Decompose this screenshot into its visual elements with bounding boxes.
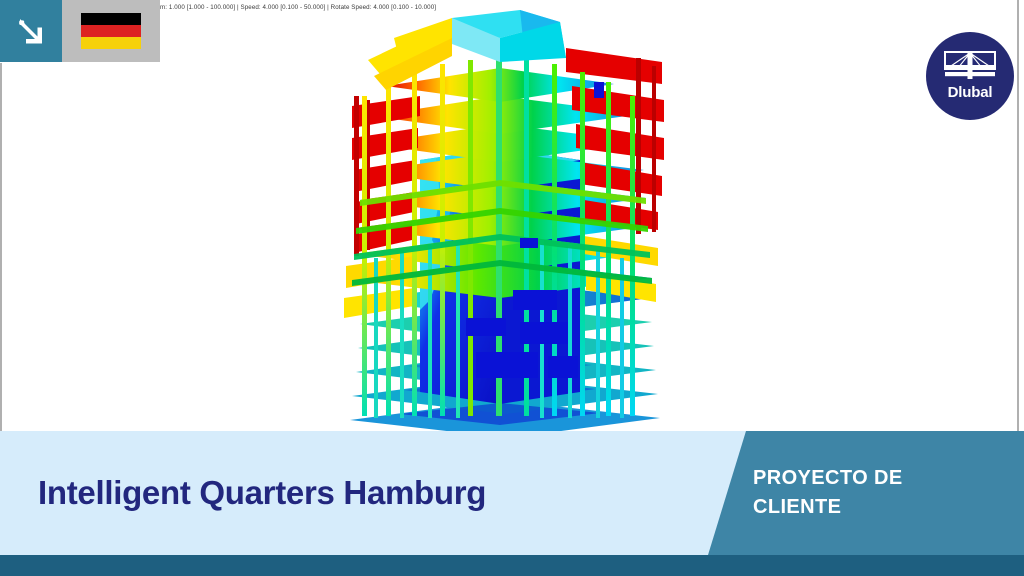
- structural-model-render[interactable]: [0, 0, 1024, 432]
- client-label-line-2: CLIENTE: [753, 493, 1013, 522]
- rfem-3d-viewport[interactable]: m: 1.000 [1.000 - 100.000] | Speed: 4.00…: [0, 0, 1024, 432]
- bottom-banner: Intelligent Quarters Hamburg PROYECTO DE…: [0, 431, 1024, 555]
- client-label-line-1: PROYECTO DE: [753, 464, 1013, 493]
- flag-band-gold: [81, 37, 141, 49]
- german-flag-icon: [81, 13, 141, 49]
- viewport-right-border: [1017, 0, 1019, 432]
- language-flag-tile-germany[interactable]: [62, 0, 160, 62]
- dlubal-wordmark: Dlubal: [948, 84, 993, 101]
- flag-band-black: [81, 13, 141, 25]
- bottom-accent-bar: [0, 555, 1024, 576]
- arrow-down-right-tile[interactable]: [0, 0, 62, 62]
- model-geometry: [344, 10, 664, 432]
- dlubal-logo[interactable]: Dlubal: [926, 32, 1014, 120]
- viewport-left-border: [0, 63, 2, 432]
- arrow-down-right-icon: [15, 15, 47, 47]
- client-label-block: PROYECTO DE CLIENTE: [753, 431, 1013, 555]
- project-title: Intelligent Quarters Hamburg: [38, 431, 486, 555]
- truss-frame-icon: [944, 51, 996, 81]
- viewport-status-text: m: 1.000 [1.000 - 100.000] | Speed: 4.00…: [160, 2, 436, 14]
- flag-band-red: [81, 25, 141, 37]
